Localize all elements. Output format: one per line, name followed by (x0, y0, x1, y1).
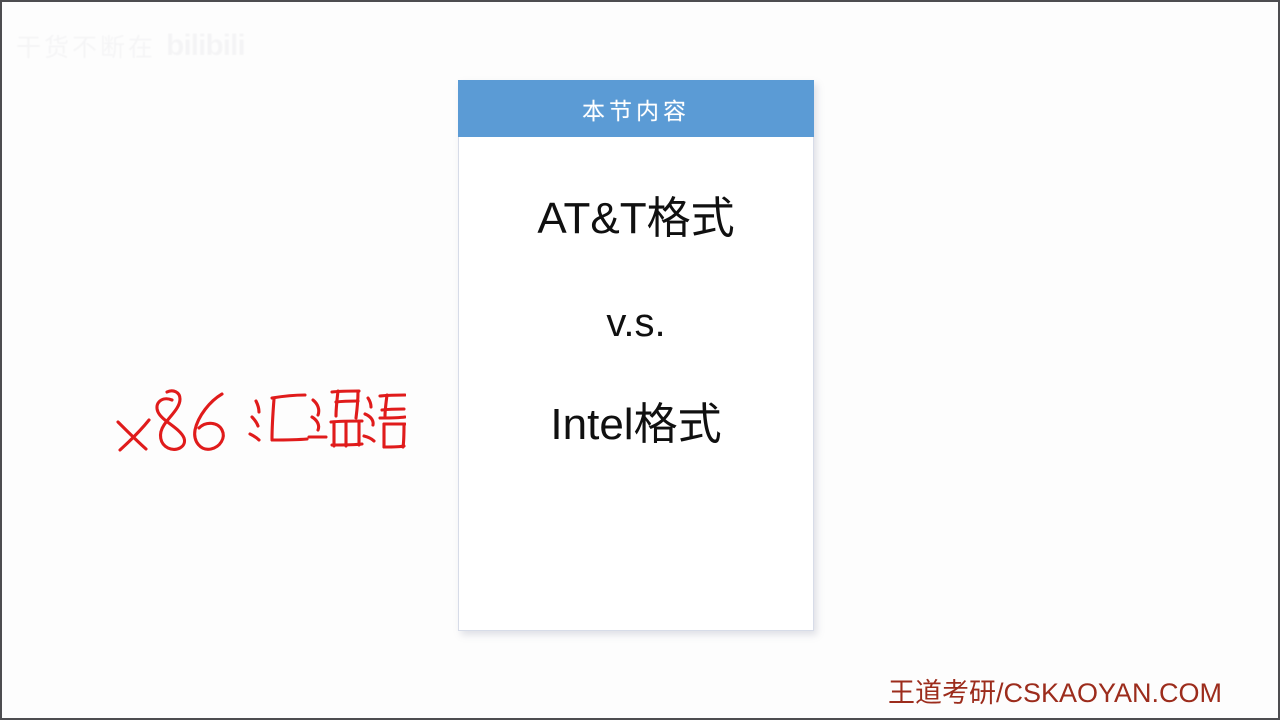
card-header-title: 本节内容 (582, 92, 690, 126)
card-body: AT&T格式 v.s. Intel格式 (458, 137, 814, 631)
bilibili-logo-icon: bilibili (166, 29, 245, 63)
handwriting-strokes-icon (106, 354, 406, 464)
content-line-intel-format: Intel格式 (459, 403, 813, 447)
slide-frame: 干货不断在 bilibili 本节内容 AT&T格式 v.s. Intel格式 … (0, 0, 1280, 720)
handwritten-annotation: x86汇编语言 (106, 354, 406, 464)
branding-text: 王道考研/CSKAOYAN.COM (888, 671, 1222, 710)
card-header: 本节内容 (458, 80, 814, 137)
watermark-slogan: 干货不断在 (16, 28, 156, 64)
content-line-att-format: AT&T格式 (459, 197, 813, 241)
content-card: 本节内容 AT&T格式 v.s. Intel格式 (458, 80, 814, 631)
content-line-versus: v.s. (459, 303, 813, 343)
bilibili-watermark: 干货不断在 bilibili (16, 20, 316, 72)
